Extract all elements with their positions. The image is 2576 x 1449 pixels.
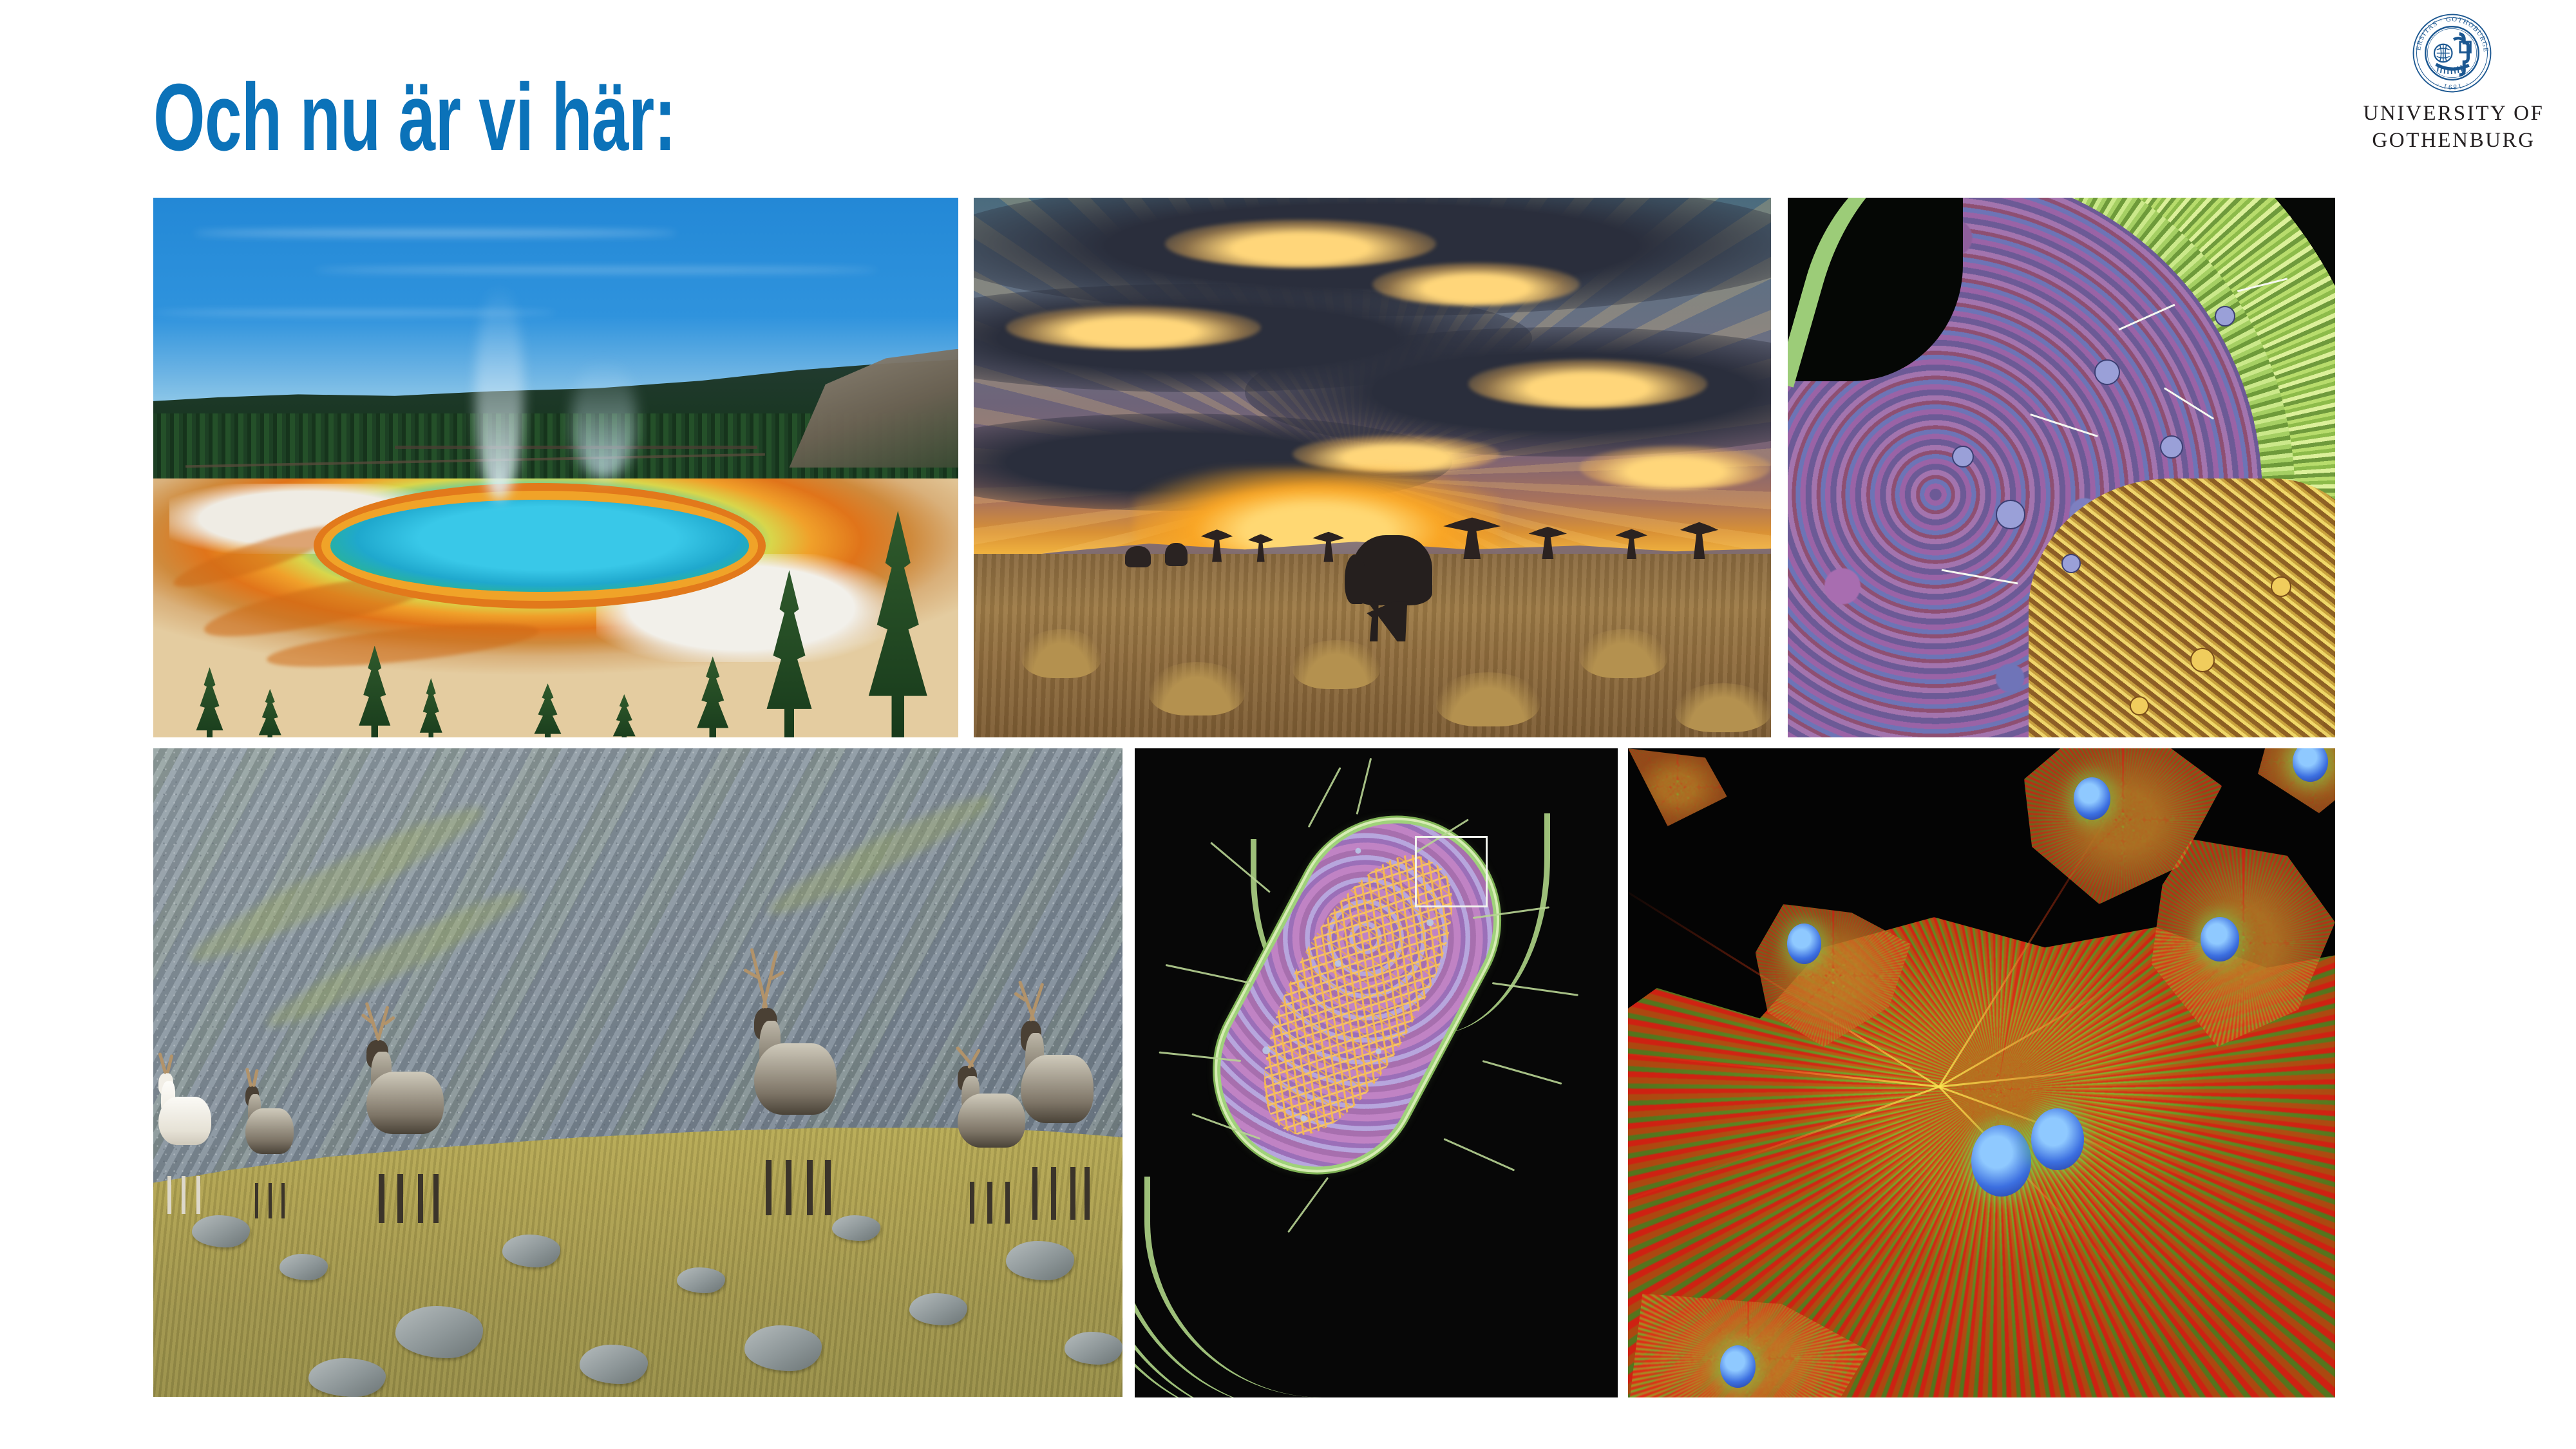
cell-nucleus [2201, 917, 2239, 961]
ribosome [2160, 435, 2183, 459]
sunlit-cloud-edge [1372, 263, 1580, 306]
logo-wordmark-line1: UNIVERSITY OF [2363, 102, 2544, 125]
reindeer-body [1021, 1055, 1094, 1123]
reindeer-leg [1084, 1167, 1090, 1220]
reindeer-leg [807, 1160, 813, 1215]
reindeer-leg [182, 1176, 185, 1213]
reindeer-leg [379, 1174, 384, 1222]
image-savanna-sunset [974, 198, 1771, 737]
reindeer-leg [397, 1174, 402, 1222]
geyser-steam-plume [572, 359, 636, 478]
image-bacterial-cell-cross-section [1788, 198, 2335, 737]
cell-nucleus [1720, 1345, 1756, 1388]
cell-nucleus [2074, 777, 2110, 820]
sunlit-cloud-edge [1580, 446, 1771, 489]
rock [744, 1325, 822, 1370]
cloud-wisp [194, 230, 677, 236]
ribosome [2061, 554, 2081, 573]
reindeer-leg [766, 1160, 772, 1215]
grass-tuft [1675, 683, 1771, 732]
reindeer-leg [825, 1160, 831, 1215]
satellite-cell [1628, 748, 1727, 826]
ribosome [1354, 847, 1362, 855]
reindeer-leg [196, 1176, 200, 1213]
reindeer-leg [1051, 1167, 1056, 1220]
page-title: Och nu är vi här: [153, 70, 676, 166]
elephant-distant [1165, 543, 1188, 565]
reindeer-white [158, 1073, 212, 1183]
reindeer-leg [269, 1183, 272, 1218]
reindeer-leg [418, 1174, 423, 1222]
reindeer [245, 1086, 294, 1189]
rock [395, 1306, 482, 1358]
university-of-gothenburg-logo: UNIVERSITAS · GOTHOBURGENSIS · 1891 · UN… [2357, 13, 2550, 180]
sunlit-cloud-edge [1165, 220, 1436, 268]
grass-tuft [1021, 629, 1101, 677]
image-ecoli-bacterium [1135, 748, 1618, 1397]
fimbria [1482, 1060, 1562, 1084]
cell-nucleus [2031, 1108, 2084, 1170]
reindeer [366, 1040, 444, 1183]
image-fluorescence-microscopy-cells [1628, 748, 2335, 1397]
geyser-steam-plume [475, 284, 524, 500]
fimbria [1308, 767, 1341, 828]
reindeer-body [245, 1108, 294, 1154]
reindeer-leg [987, 1182, 992, 1224]
grass-tuft [1293, 640, 1380, 688]
rock [580, 1345, 647, 1383]
elephant-foreground [1352, 535, 1432, 605]
reindeer-leg [1070, 1167, 1075, 1220]
reindeer-leg [281, 1183, 285, 1218]
rock [1065, 1332, 1122, 1364]
dna-nucleoid-region [2029, 478, 2335, 737]
reindeer-leg [167, 1176, 171, 1213]
reindeer-body [958, 1094, 1025, 1148]
elephant-distant [1125, 546, 1151, 568]
image-grand-prismatic-spring [153, 198, 958, 737]
slide-canvas: Och nu är vi här: UNIVERSITAS · GOTHOBUR… [0, 0, 2576, 1449]
grass-tuft [1436, 672, 1540, 726]
rock [502, 1235, 560, 1267]
cloud-wisp [314, 268, 878, 272]
rock [279, 1254, 328, 1280]
logo-wordmark: UNIVERSITY OF GOTHENBURG [2357, 100, 2550, 154]
reindeer-leg [255, 1183, 258, 1218]
reindeer-leg [433, 1174, 439, 1222]
fimbria [1443, 1138, 1515, 1171]
fimbria [1356, 758, 1372, 815]
image-reindeer-tundra [153, 748, 1122, 1397]
reindeer-leg [1005, 1182, 1010, 1224]
cell-nucleus [1971, 1125, 2031, 1197]
rock [677, 1267, 725, 1293]
reindeer-body [366, 1072, 444, 1134]
grass-tuft [1580, 629, 1667, 677]
dna-binding-protein [2271, 576, 2291, 597]
hot-spring-pool [330, 500, 749, 591]
reindeer-body [158, 1097, 212, 1145]
reindeer [958, 1066, 1025, 1189]
reindeer-leg [970, 1182, 974, 1224]
university-seal-icon: UNIVERSITAS · GOTHOBURGENSIS · 1891 · [2412, 13, 2492, 93]
sunlit-cloud-edge [1006, 306, 1261, 349]
reindeer [1021, 1021, 1094, 1177]
cell-nucleus [1787, 923, 1821, 963]
logo-wordmark-line2: GOTHENBURG [2357, 127, 2550, 154]
grass-tuft [1149, 662, 1245, 716]
zoom-inset-marker [1415, 836, 1488, 907]
reindeer-leg [786, 1160, 791, 1215]
reindeer [754, 1008, 837, 1170]
sunlit-cloud-edge [1468, 359, 1707, 408]
fimbria [1166, 964, 1251, 984]
rock [1006, 1241, 1074, 1280]
ribosome [2215, 306, 2235, 327]
reindeer-body [754, 1043, 837, 1115]
reindeer-leg [1032, 1167, 1037, 1220]
ribosome [1996, 500, 2025, 529]
